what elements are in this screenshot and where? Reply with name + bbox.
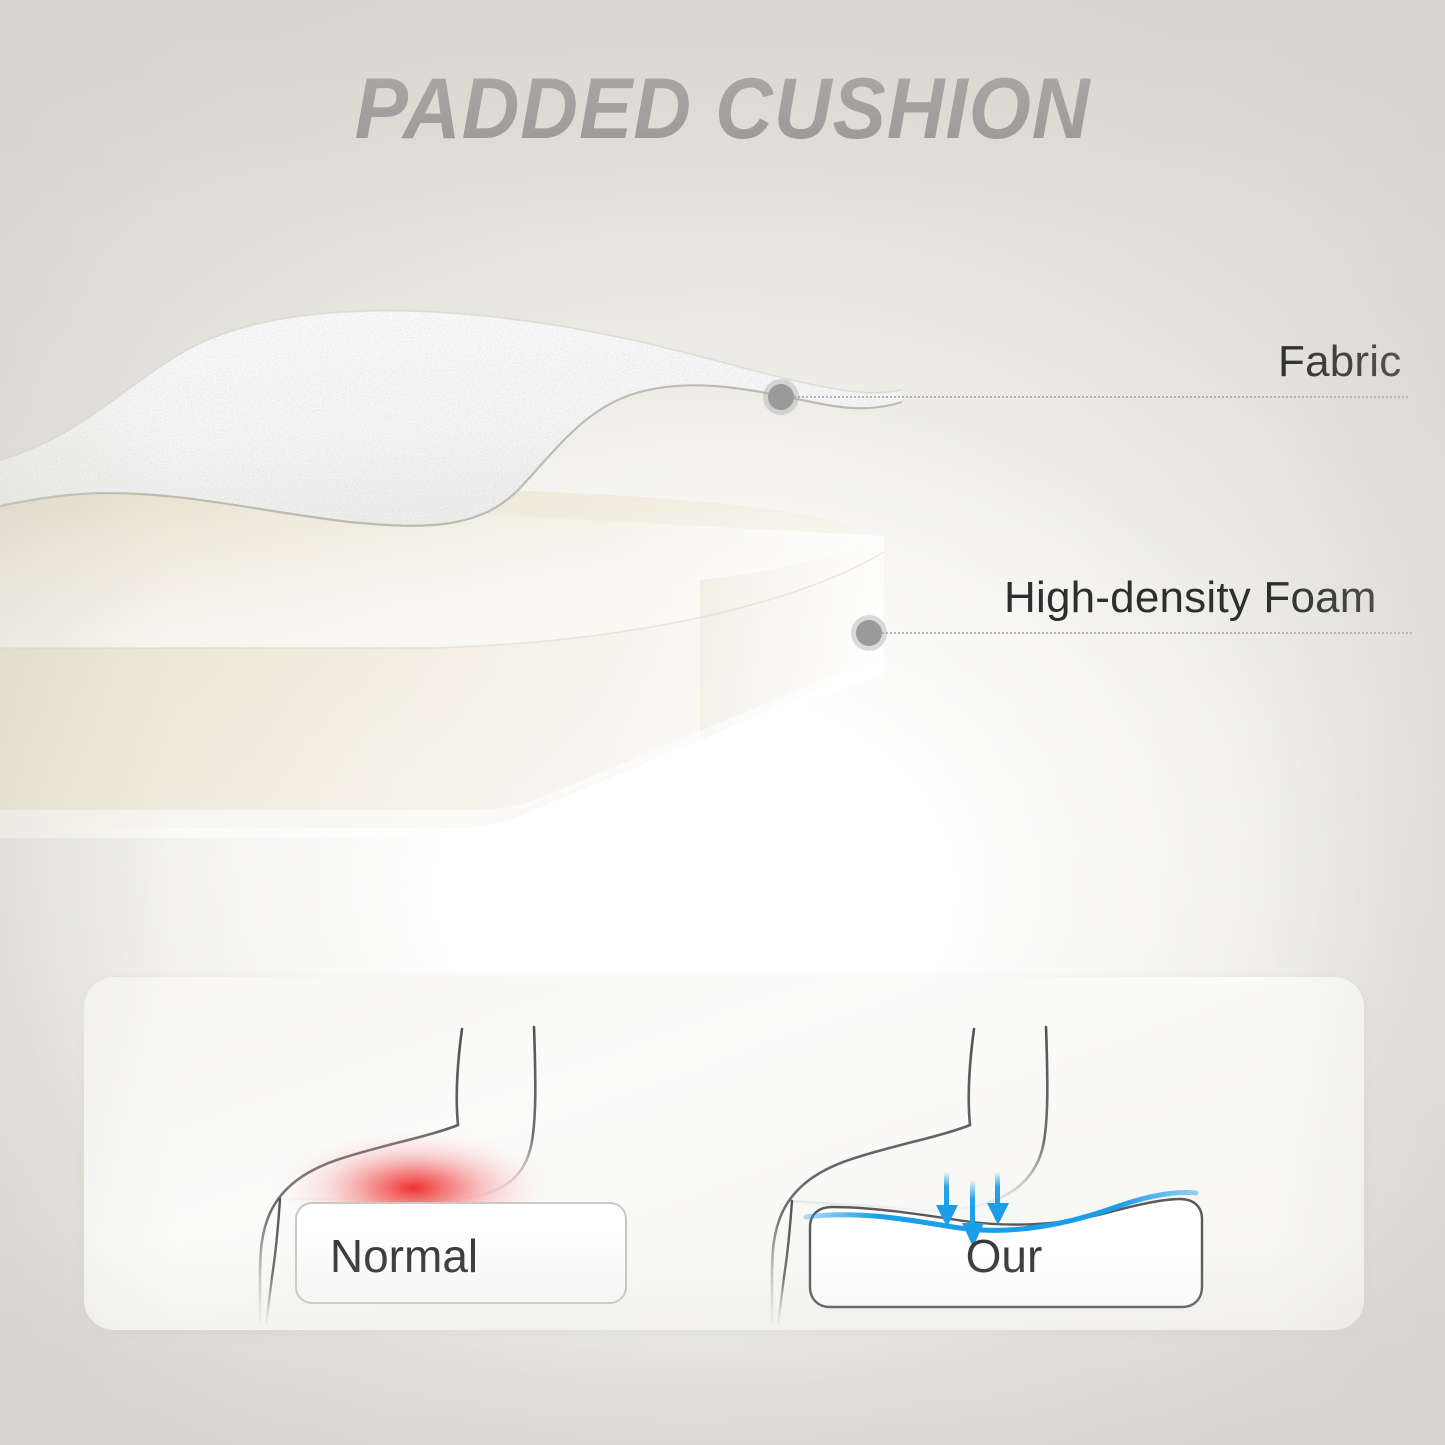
infographic-canvas: Fabric High-density Foam: [0, 0, 1445, 1445]
fabric-marker-dot: [768, 384, 794, 410]
foam-label: High-density Foam: [1004, 573, 1377, 623]
page-title: PADDED CUSHION: [51, 66, 1395, 152]
product-exploded-view: [0, 250, 1000, 930]
foam-marker-dot: [856, 620, 882, 646]
pressure-arrow-right: [987, 1173, 1009, 1225]
fabric-leader-line: [786, 396, 1408, 398]
fabric-sheet: [0, 311, 902, 526]
comparison-card: Normal Our: [84, 977, 1364, 1330]
fabric-label: Fabric: [1278, 337, 1401, 387]
label-our: Our: [824, 1229, 1184, 1283]
foam-block: [0, 486, 884, 838]
label-normal: Normal: [224, 1229, 584, 1283]
foam-leader-line: [874, 632, 1412, 634]
